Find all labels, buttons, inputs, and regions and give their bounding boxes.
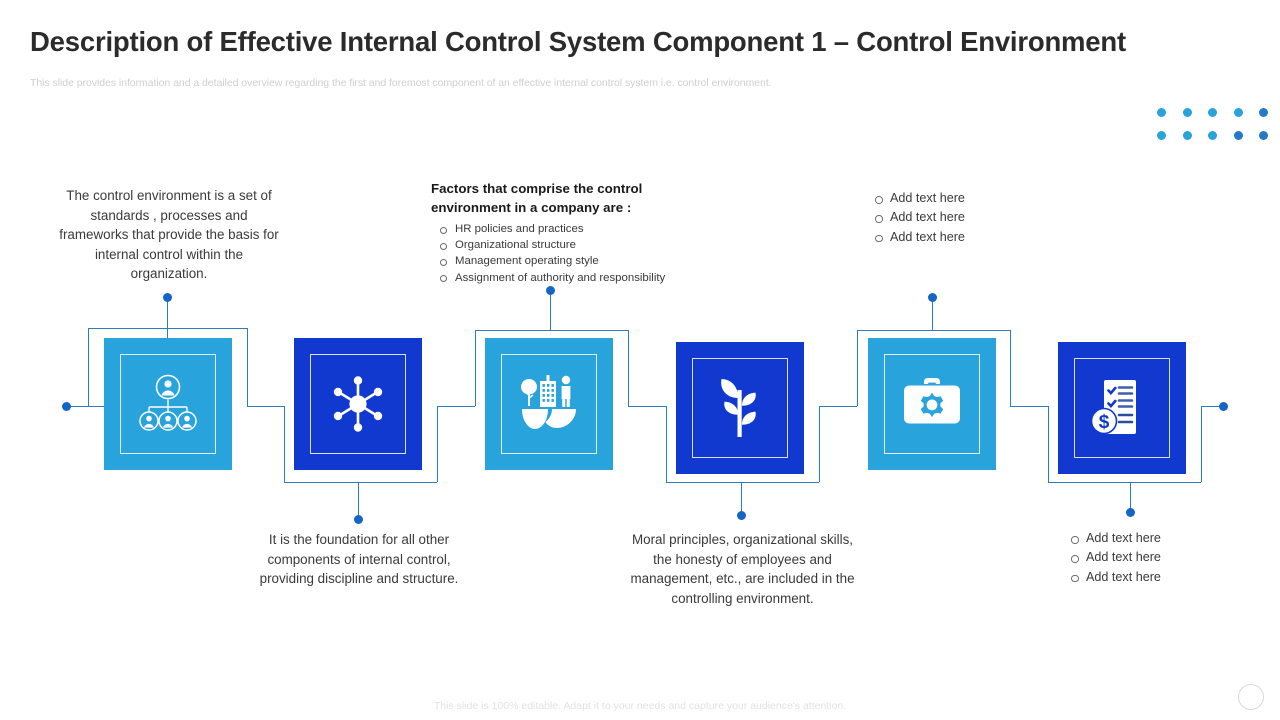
tile-inner-frame [884, 354, 980, 454]
connector-line [247, 328, 248, 406]
dot-row [1157, 108, 1280, 117]
list-item: Add text here [1062, 529, 1242, 548]
dot-row [1157, 131, 1280, 140]
connector-node [354, 515, 363, 524]
factors-block: Factors that comprise the control enviro… [431, 179, 721, 286]
list-item: Add text here [1062, 568, 1242, 587]
connector-line [666, 482, 819, 483]
connector-line [437, 406, 475, 407]
connector-line [475, 330, 476, 406]
list-item: Add text here [866, 189, 1046, 208]
connector-line [284, 406, 285, 482]
connector-line [1048, 482, 1201, 483]
dot [1259, 108, 1268, 117]
list-item: Organizational structure [431, 237, 721, 253]
dot [1234, 131, 1243, 140]
connector-line [819, 406, 857, 407]
network-hub-icon [325, 371, 391, 437]
connector-node [62, 402, 71, 411]
callout-bottom-mid: Moral principles, organizational skills,… [624, 530, 861, 608]
connector-line [1048, 406, 1049, 482]
component-tile-4[interactable] [676, 342, 804, 474]
tile-inner-frame [310, 354, 406, 454]
connector-line [819, 406, 820, 482]
connector-line [628, 406, 666, 407]
slide-canvas: Description of Effective Internal Contro… [0, 0, 1280, 720]
dot [1183, 131, 1192, 140]
list-item: Add text here [866, 208, 1046, 227]
plant-sprout-icon [710, 377, 770, 439]
connector-line [475, 330, 628, 331]
footer-circle-decoration [1238, 684, 1264, 710]
connector-line [167, 300, 168, 340]
dot [1157, 131, 1166, 140]
connector-node [1126, 508, 1135, 517]
connector-node [928, 293, 937, 302]
list-item: Add text here [1062, 548, 1242, 567]
connector-node [546, 286, 555, 295]
callout-top-right-list: Add text here Add text here Add text her… [866, 189, 1046, 247]
svg-text:$: $ [1099, 412, 1110, 433]
callout-top-left: The control environment is a set of stan… [55, 186, 283, 284]
dot [1208, 131, 1217, 140]
factors-list: HR policies and practices Organizational… [431, 221, 721, 286]
component-tile-2[interactable] [294, 338, 422, 470]
tile-inner-frame [501, 354, 597, 454]
factors-heading: Factors that comprise the control enviro… [431, 179, 721, 217]
component-tile-5[interactable] [868, 338, 996, 470]
callout-bottom-right-list: Add text here Add text here Add text her… [1062, 529, 1242, 587]
tile-inner-frame: $ [1074, 358, 1170, 458]
list-item: HR policies and practices [431, 221, 721, 237]
page-subtitle: This slide provides information and a de… [30, 77, 1030, 89]
connector-line [1201, 406, 1202, 482]
list-item: Add text here [866, 228, 1046, 247]
connector-line [857, 330, 858, 406]
connector-line [550, 292, 551, 330]
connector-line [1010, 330, 1011, 406]
list-item: Assignment of authority and responsibili… [431, 270, 721, 286]
connector-node [737, 511, 746, 520]
list-item: Management operating style [431, 253, 721, 269]
dot [1183, 108, 1192, 117]
connector-line [88, 328, 89, 406]
connector-node [1219, 402, 1228, 411]
environment-icon [516, 373, 582, 435]
component-tile-3[interactable] [485, 338, 613, 470]
connector-line [857, 330, 1010, 331]
dot [1259, 131, 1268, 140]
tile-inner-frame [692, 358, 788, 458]
callout-bottom-left: It is the foundation for all other compo… [252, 530, 466, 589]
connector-line [437, 406, 438, 482]
connector-line [932, 300, 933, 330]
connector-line [666, 406, 667, 482]
connector-line [284, 482, 437, 483]
component-tile-6[interactable]: $ [1058, 342, 1186, 474]
connector-line [1010, 406, 1048, 407]
dot [1208, 108, 1217, 117]
connector-line [628, 330, 629, 406]
dot [1234, 108, 1243, 117]
connector-node [163, 293, 172, 302]
connector-line [66, 406, 104, 407]
briefcase-gear-icon [899, 375, 965, 433]
org-chart-icon [133, 374, 203, 434]
page-title: Description of Effective Internal Contro… [30, 26, 1245, 58]
checklist-money-icon: $ [1090, 377, 1154, 439]
dot [1157, 108, 1166, 117]
footer-note: This slide is 100% editable. Adapt it to… [0, 700, 1280, 712]
tile-inner-frame [120, 354, 216, 454]
connector-line [247, 406, 284, 407]
component-tile-1[interactable] [104, 338, 232, 470]
decorative-dot-grid [1157, 108, 1280, 154]
